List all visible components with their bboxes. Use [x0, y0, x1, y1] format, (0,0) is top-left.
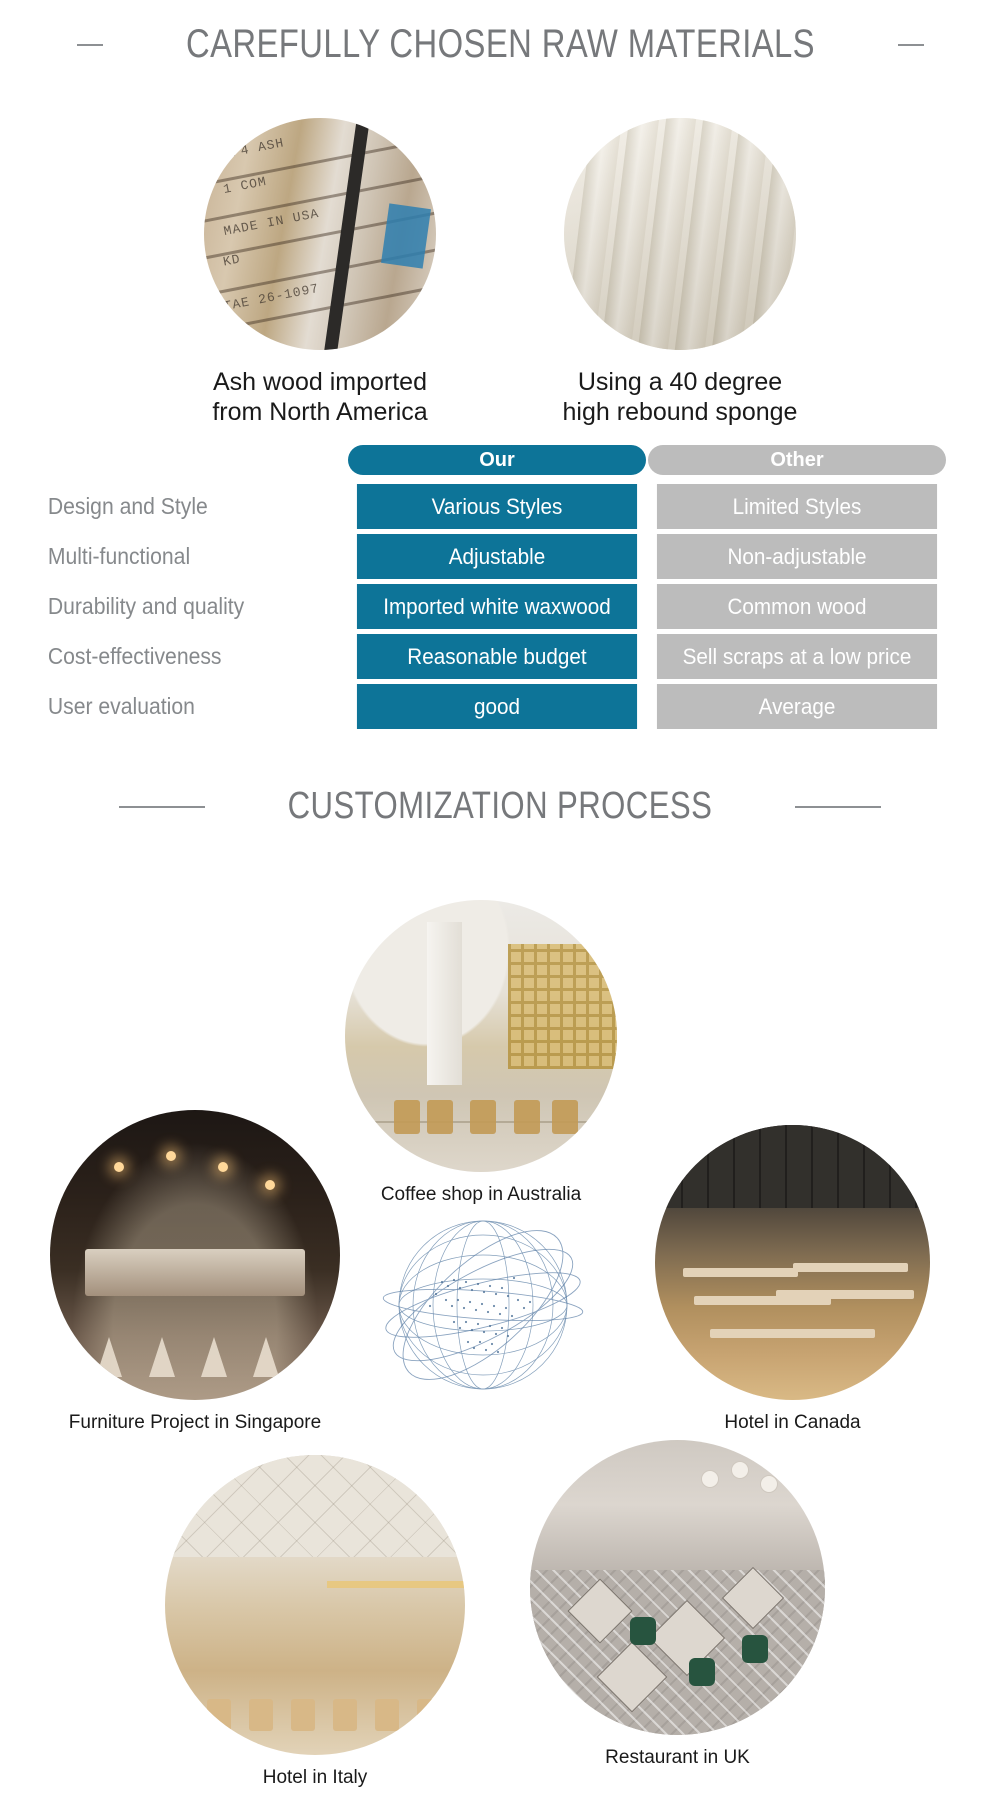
- project-item-coffee: Coffee shop in Australia: [345, 900, 617, 1206]
- cell-other-design-and-style: Limited Styles: [657, 484, 937, 529]
- materials-heading-text: CAREFULLY CHOSEN RAW MATERIALS: [186, 22, 815, 67]
- project-caption-canada: Hotel in Canada: [724, 1412, 860, 1434]
- coffee-shop-australia-photo: [345, 900, 617, 1172]
- material-caption-line1: Ash wood imported: [212, 368, 427, 398]
- project-caption-italy: Hotel in Italy: [263, 1767, 368, 1789]
- cell-our-cost-effectiveness: Reasonable budget: [357, 634, 637, 679]
- comparison-table: Our Other Design and Style Various Style…: [0, 445, 1000, 729]
- cell-other-multi-functional: Non-adjustable: [657, 534, 937, 579]
- restaurant-uk-photo: [530, 1440, 825, 1735]
- project-caption-singapore: Furniture Project in Singapore: [69, 1412, 321, 1434]
- materials-section-heading: CAREFULLY CHOSEN RAW MATERIALS: [0, 22, 1000, 67]
- material-caption-line2: from North America: [212, 398, 427, 428]
- cell-our-durability-and-quality: Imported white waxwood: [357, 584, 637, 629]
- project-caption-coffee: Coffee shop in Australia: [381, 1184, 581, 1206]
- furniture-project-singapore-photo: [50, 1110, 340, 1400]
- cell-our-design-and-style: Various Styles: [357, 484, 637, 529]
- project-caption-uk: Restaurant in UK: [605, 1747, 750, 1769]
- material-caption-line2: high rebound sponge: [563, 398, 798, 428]
- project-item-italy: Hotel in Italy: [165, 1455, 465, 1789]
- cell-other-cost-effectiveness: Sell scraps at a low price: [657, 634, 937, 679]
- column-header-our: Our: [348, 445, 646, 475]
- project-gallery: Coffee shop in Australia Furniture Proje…: [0, 880, 1000, 1817]
- wireframe-globe-graphic: [368, 1190, 598, 1420]
- material-item-ash-wood: 3/4 ASH 1 COM MADE IN USA KD TAE 26-1097…: [199, 118, 441, 427]
- project-item-singapore: Furniture Project in Singapore: [50, 1110, 340, 1434]
- hotel-italy-photo: [165, 1455, 465, 1755]
- row-label-design-and-style: Design and Style: [0, 484, 320, 529]
- column-header-other: Other: [648, 445, 946, 475]
- project-item-canada: Hotel in Canada: [655, 1125, 930, 1434]
- ash-wood-planks-photo: 3/4 ASH 1 COM MADE IN USA KD TAE 26-1097: [204, 118, 436, 350]
- stencil-line-4: KD: [221, 251, 241, 269]
- row-label-durability-and-quality: Durability and quality: [0, 584, 320, 629]
- hotel-canada-photo: [655, 1125, 930, 1400]
- cell-our-user-evaluation: good: [357, 684, 637, 729]
- high-rebound-sponge-photo: [564, 118, 796, 350]
- process-heading-text: CUSTOMIZATION PROCESS: [288, 785, 713, 828]
- material-caption-sponge: Using a 40 degree high rebound sponge: [563, 368, 798, 427]
- cell-our-multi-functional: Adjustable: [357, 534, 637, 579]
- materials-list: 3/4 ASH 1 COM MADE IN USA KD TAE 26-1097…: [0, 118, 1000, 427]
- row-label-multi-functional: Multi-functional: [0, 534, 320, 579]
- row-label-cost-effectiveness: Cost-effectiveness: [0, 634, 320, 679]
- cell-other-durability-and-quality: Common wood: [657, 584, 937, 629]
- process-rule-right: [795, 806, 881, 808]
- stencil-line-1: 3/4 ASH: [222, 135, 285, 161]
- process-rule-left: [119, 806, 205, 808]
- heading-rule-left: [77, 44, 103, 46]
- project-item-uk: Restaurant in UK: [530, 1440, 825, 1769]
- heading-rule-right: [898, 44, 924, 46]
- material-caption-ash-wood: Ash wood imported from North America: [212, 368, 427, 427]
- product-detail-page: CAREFULLY CHOSEN RAW MATERIALS 3/4 ASH 1…: [0, 0, 1000, 1817]
- cell-other-user-evaluation: Average: [657, 684, 937, 729]
- stencil-line-5: TAE 26-1097: [222, 281, 320, 314]
- header-spacer: [0, 445, 348, 479]
- stencil-line-3: MADE IN USA: [222, 206, 320, 239]
- process-section-heading: CUSTOMIZATION PROCESS: [0, 785, 1000, 828]
- material-caption-line1: Using a 40 degree: [563, 368, 798, 398]
- material-item-sponge: Using a 40 degree high rebound sponge: [559, 118, 801, 427]
- row-label-user-evaluation: User evaluation: [0, 684, 320, 729]
